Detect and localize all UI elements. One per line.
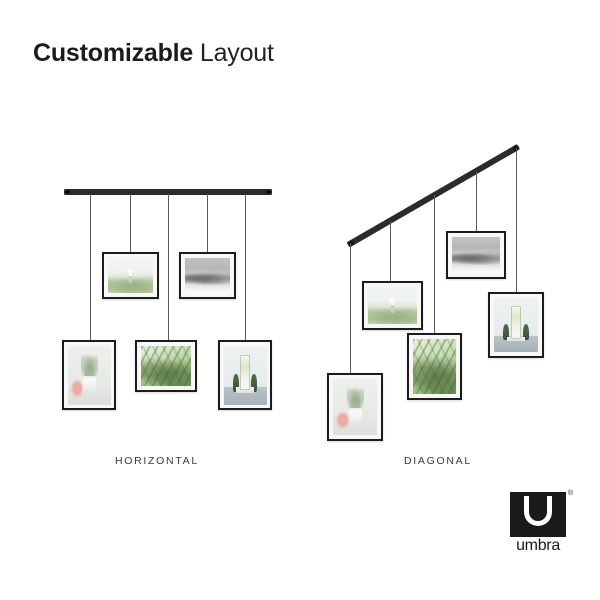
photo-subject-figure	[391, 300, 394, 313]
hanging-wire	[130, 194, 131, 252]
photo-subject-blush	[335, 412, 348, 430]
umbra-logo: ® umbra	[510, 492, 566, 554]
rail-end-cap-right-icon	[266, 190, 271, 195]
photo-grayscale-landscape	[452, 237, 500, 273]
photo-potted-plant	[333, 379, 378, 436]
picture-frame	[362, 281, 423, 330]
frame-mat	[137, 342, 195, 390]
hanging-wire	[516, 148, 517, 293]
photo-subject-leaves	[347, 388, 364, 411]
picture-frame	[218, 340, 272, 410]
rail-end-cap-left-icon	[348, 240, 355, 247]
photo-subject-figure	[129, 271, 132, 283]
photo-meadow-figure	[108, 258, 154, 294]
picture-frame	[488, 292, 544, 358]
caption-horizontal: HORIZONTAL	[115, 455, 199, 467]
photo-subject-pot	[83, 376, 96, 394]
hanging-wire	[476, 171, 477, 233]
caption-diagonal: DIAGONAL	[404, 455, 472, 467]
photo-bottle-vase	[224, 346, 267, 405]
umbra-logo-mark-icon	[510, 492, 566, 537]
photo-grayscale-landscape	[185, 258, 231, 294]
photo-subject-vessel	[240, 355, 250, 390]
rail-end-cap-left-icon	[65, 190, 70, 195]
photo-subject-blush	[70, 380, 83, 399]
registered-trademark-icon: ®	[568, 490, 573, 497]
picture-frame	[446, 231, 506, 279]
umbra-wordmark: umbra	[510, 537, 566, 554]
photo-potted-plant	[68, 346, 111, 405]
hanging-wire	[168, 194, 169, 340]
picture-frame	[327, 373, 383, 441]
photo-bottle-vase	[494, 298, 539, 353]
diagonal-layout-group: DIAGONAL	[310, 0, 600, 500]
picture-frame	[102, 252, 159, 299]
frame-mat	[104, 254, 157, 297]
picture-frame	[135, 340, 197, 392]
umbra-u-glyph-icon	[524, 496, 552, 526]
photo-palm-fronds	[141, 346, 191, 386]
frame-mat	[64, 342, 114, 408]
frame-mat	[181, 254, 234, 297]
photo-palm-fronds	[413, 339, 457, 395]
hanging-wire	[350, 243, 351, 373]
frame-mat	[329, 375, 381, 439]
hanging-wire	[90, 194, 91, 340]
frame-mat	[220, 342, 270, 408]
photo-meadow-figure	[368, 287, 417, 324]
picture-frame	[407, 333, 462, 400]
horizontal-layout-group: HORIZONTAL	[0, 0, 330, 500]
picture-frame	[179, 252, 236, 299]
hanging-wire	[207, 194, 208, 252]
photo-subject-vessel	[511, 306, 522, 339]
photo-subject-leaves	[81, 355, 97, 379]
product-layout-graphic: Customizable Layout	[0, 0, 600, 600]
hanging-wire	[245, 194, 246, 340]
frame-mat	[490, 294, 542, 356]
photo-subject-pot	[349, 408, 362, 425]
picture-frame	[62, 340, 116, 410]
frame-mat	[409, 335, 460, 398]
frame-mat	[448, 233, 504, 277]
frame-mat	[364, 283, 421, 328]
